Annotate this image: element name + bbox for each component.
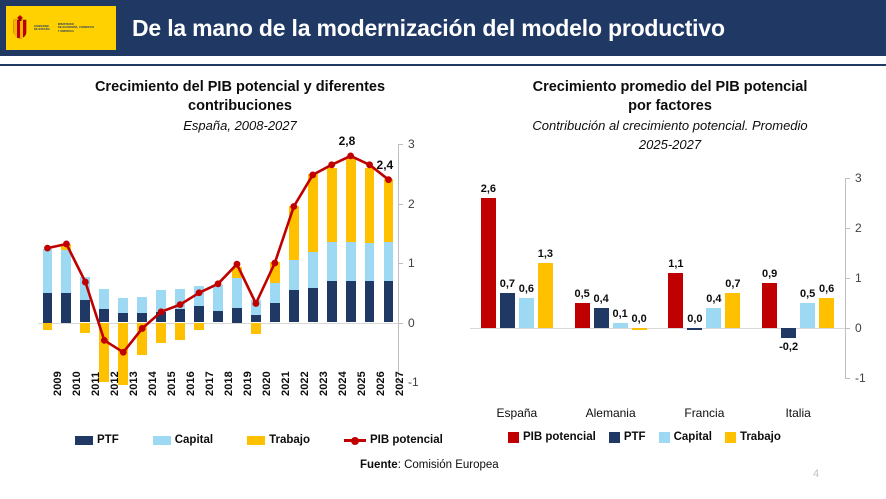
legend-swatch	[609, 432, 620, 443]
legend-label: PIB potencial	[523, 431, 596, 443]
right-chart-panel: Crecimiento promedio del PIB potencial p…	[460, 78, 880, 488]
logo-ministerio-text: MINISTERIO DE ECONOMÍA, COMERCIO Y EMPRE…	[58, 23, 94, 33]
source-note: Fuente: Comisión Europea	[360, 459, 499, 471]
bar-trabajo	[632, 328, 647, 330]
bar-value-label: -0,2	[772, 341, 805, 353]
legend-item: Trabajo	[247, 434, 310, 446]
y-tick-label: 1	[855, 272, 862, 284]
source-value: : Comisión Europea	[398, 459, 499, 471]
bar-ptf	[500, 293, 515, 328]
legend-line-dot	[351, 437, 359, 445]
right-chart-title-line2: por factores	[460, 97, 880, 116]
legend-line-swatch	[344, 436, 366, 445]
logo-gobierno-text: GOBIERNO DE ESPAÑA	[34, 25, 50, 32]
logo-ministerio-line3: Y EMPRESA	[58, 30, 94, 33]
right-chart-subtitle-line1: Contribución al crecimiento potencial. P…	[460, 117, 880, 135]
legend-item: Trabajo	[725, 431, 781, 443]
bar-pib	[481, 198, 496, 328]
bar-trabajo	[819, 298, 834, 328]
y-tick-label: 2	[855, 222, 862, 234]
y-tick-mark	[845, 178, 850, 179]
legend-label: Trabajo	[269, 434, 310, 446]
pib-potencial-line	[38, 144, 438, 392]
bar-pib	[762, 283, 777, 328]
legend-swatch	[153, 436, 171, 445]
bar-trabajo	[725, 293, 740, 328]
bar-capital	[800, 303, 815, 328]
bar-pib	[575, 303, 590, 328]
data-point-label: 2,4	[377, 158, 394, 172]
legend-item: PIB potencial	[344, 434, 443, 446]
y-tick-mark	[845, 278, 850, 279]
bar-value-label: 0,4	[585, 293, 618, 305]
y-tick-mark	[845, 378, 850, 379]
logo-gobierno-line2: DE ESPAÑA	[34, 28, 50, 31]
coat-of-arms-icon	[11, 15, 29, 41]
header-bar: GOBIERNO DE ESPAÑA MINISTERIO DE ECONOMÍ…	[0, 0, 886, 56]
legend-label: PIB potencial	[370, 434, 443, 446]
legend-swatch	[659, 432, 670, 443]
right-chart-subtitle-line2: 2025-2027	[460, 136, 880, 154]
header-rule	[0, 64, 886, 66]
source-label: Fuente	[360, 459, 398, 471]
x-axis-country-label: Alemania	[564, 406, 658, 420]
y-tick-label: -1	[855, 372, 866, 384]
bar-value-label: 0,0	[623, 313, 656, 325]
bar-ptf	[781, 328, 796, 338]
y-tick-label: 3	[855, 172, 862, 184]
left-chart-title-line1: Crecimiento del PIB potencial y diferent…	[20, 78, 460, 97]
bar-value-label: 2,6	[472, 183, 505, 195]
bar-value-label: 0,7	[716, 278, 749, 290]
bar-trabajo	[538, 263, 553, 328]
right-chart-title-line1: Crecimiento promedio del PIB potencial	[460, 78, 880, 97]
legend-label: PTF	[97, 434, 119, 446]
right-chart-legend: PIB potencialPTFCapitalTrabajo	[508, 431, 781, 443]
legend-swatch	[247, 436, 265, 445]
left-chart-plot-area: -101232009201020112012201320142015201620…	[38, 144, 398, 382]
legend-label: Capital	[175, 434, 213, 446]
legend-label: PTF	[624, 431, 646, 443]
y-tick-mark	[845, 228, 850, 229]
left-chart-legend: PTFCapitalTrabajoPIB potencial	[75, 434, 443, 446]
y-tick-mark	[845, 328, 850, 329]
right-chart-plot-area: -101232,60,70,61,3España0,50,40,10,0Alem…	[470, 178, 845, 378]
legend-swatch	[75, 436, 93, 445]
legend-label: Trabajo	[740, 431, 781, 443]
bar-value-label: 1,3	[529, 248, 562, 260]
legend-item: PIB potencial	[508, 431, 596, 443]
y-tick-label: 0	[855, 322, 862, 334]
legend-label: Capital	[674, 431, 712, 443]
legend-swatch	[725, 432, 736, 443]
legend-item: PTF	[75, 434, 119, 446]
data-point-label: 2,8	[339, 134, 356, 148]
bar-value-label: 1,1	[659, 258, 692, 270]
bar-ptf	[687, 328, 702, 330]
bar-capital	[706, 308, 721, 328]
legend-swatch	[508, 432, 519, 443]
government-logo: GOBIERNO DE ESPAÑA MINISTERIO DE ECONOMÍ…	[6, 6, 116, 50]
bar-capital	[519, 298, 534, 328]
x-axis-country-label: España	[470, 406, 564, 420]
bar-value-label: 0,9	[753, 268, 786, 280]
page-number: 4	[813, 468, 819, 480]
x-axis-country-label: Italia	[751, 406, 845, 420]
bar-value-label: 0,6	[810, 283, 843, 295]
left-chart-panel: Crecimiento del PIB potencial y diferent…	[20, 78, 460, 488]
legend-item: Capital	[153, 434, 213, 446]
x-axis-country-label: Francia	[658, 406, 752, 420]
legend-item: Capital	[659, 431, 712, 443]
left-chart-subtitle: España, 2008-2027	[20, 117, 460, 135]
legend-item: PTF	[609, 431, 646, 443]
left-chart-title-line2: contribuciones	[20, 97, 460, 116]
slide-title: De la mano de la modernización del model…	[132, 15, 725, 42]
